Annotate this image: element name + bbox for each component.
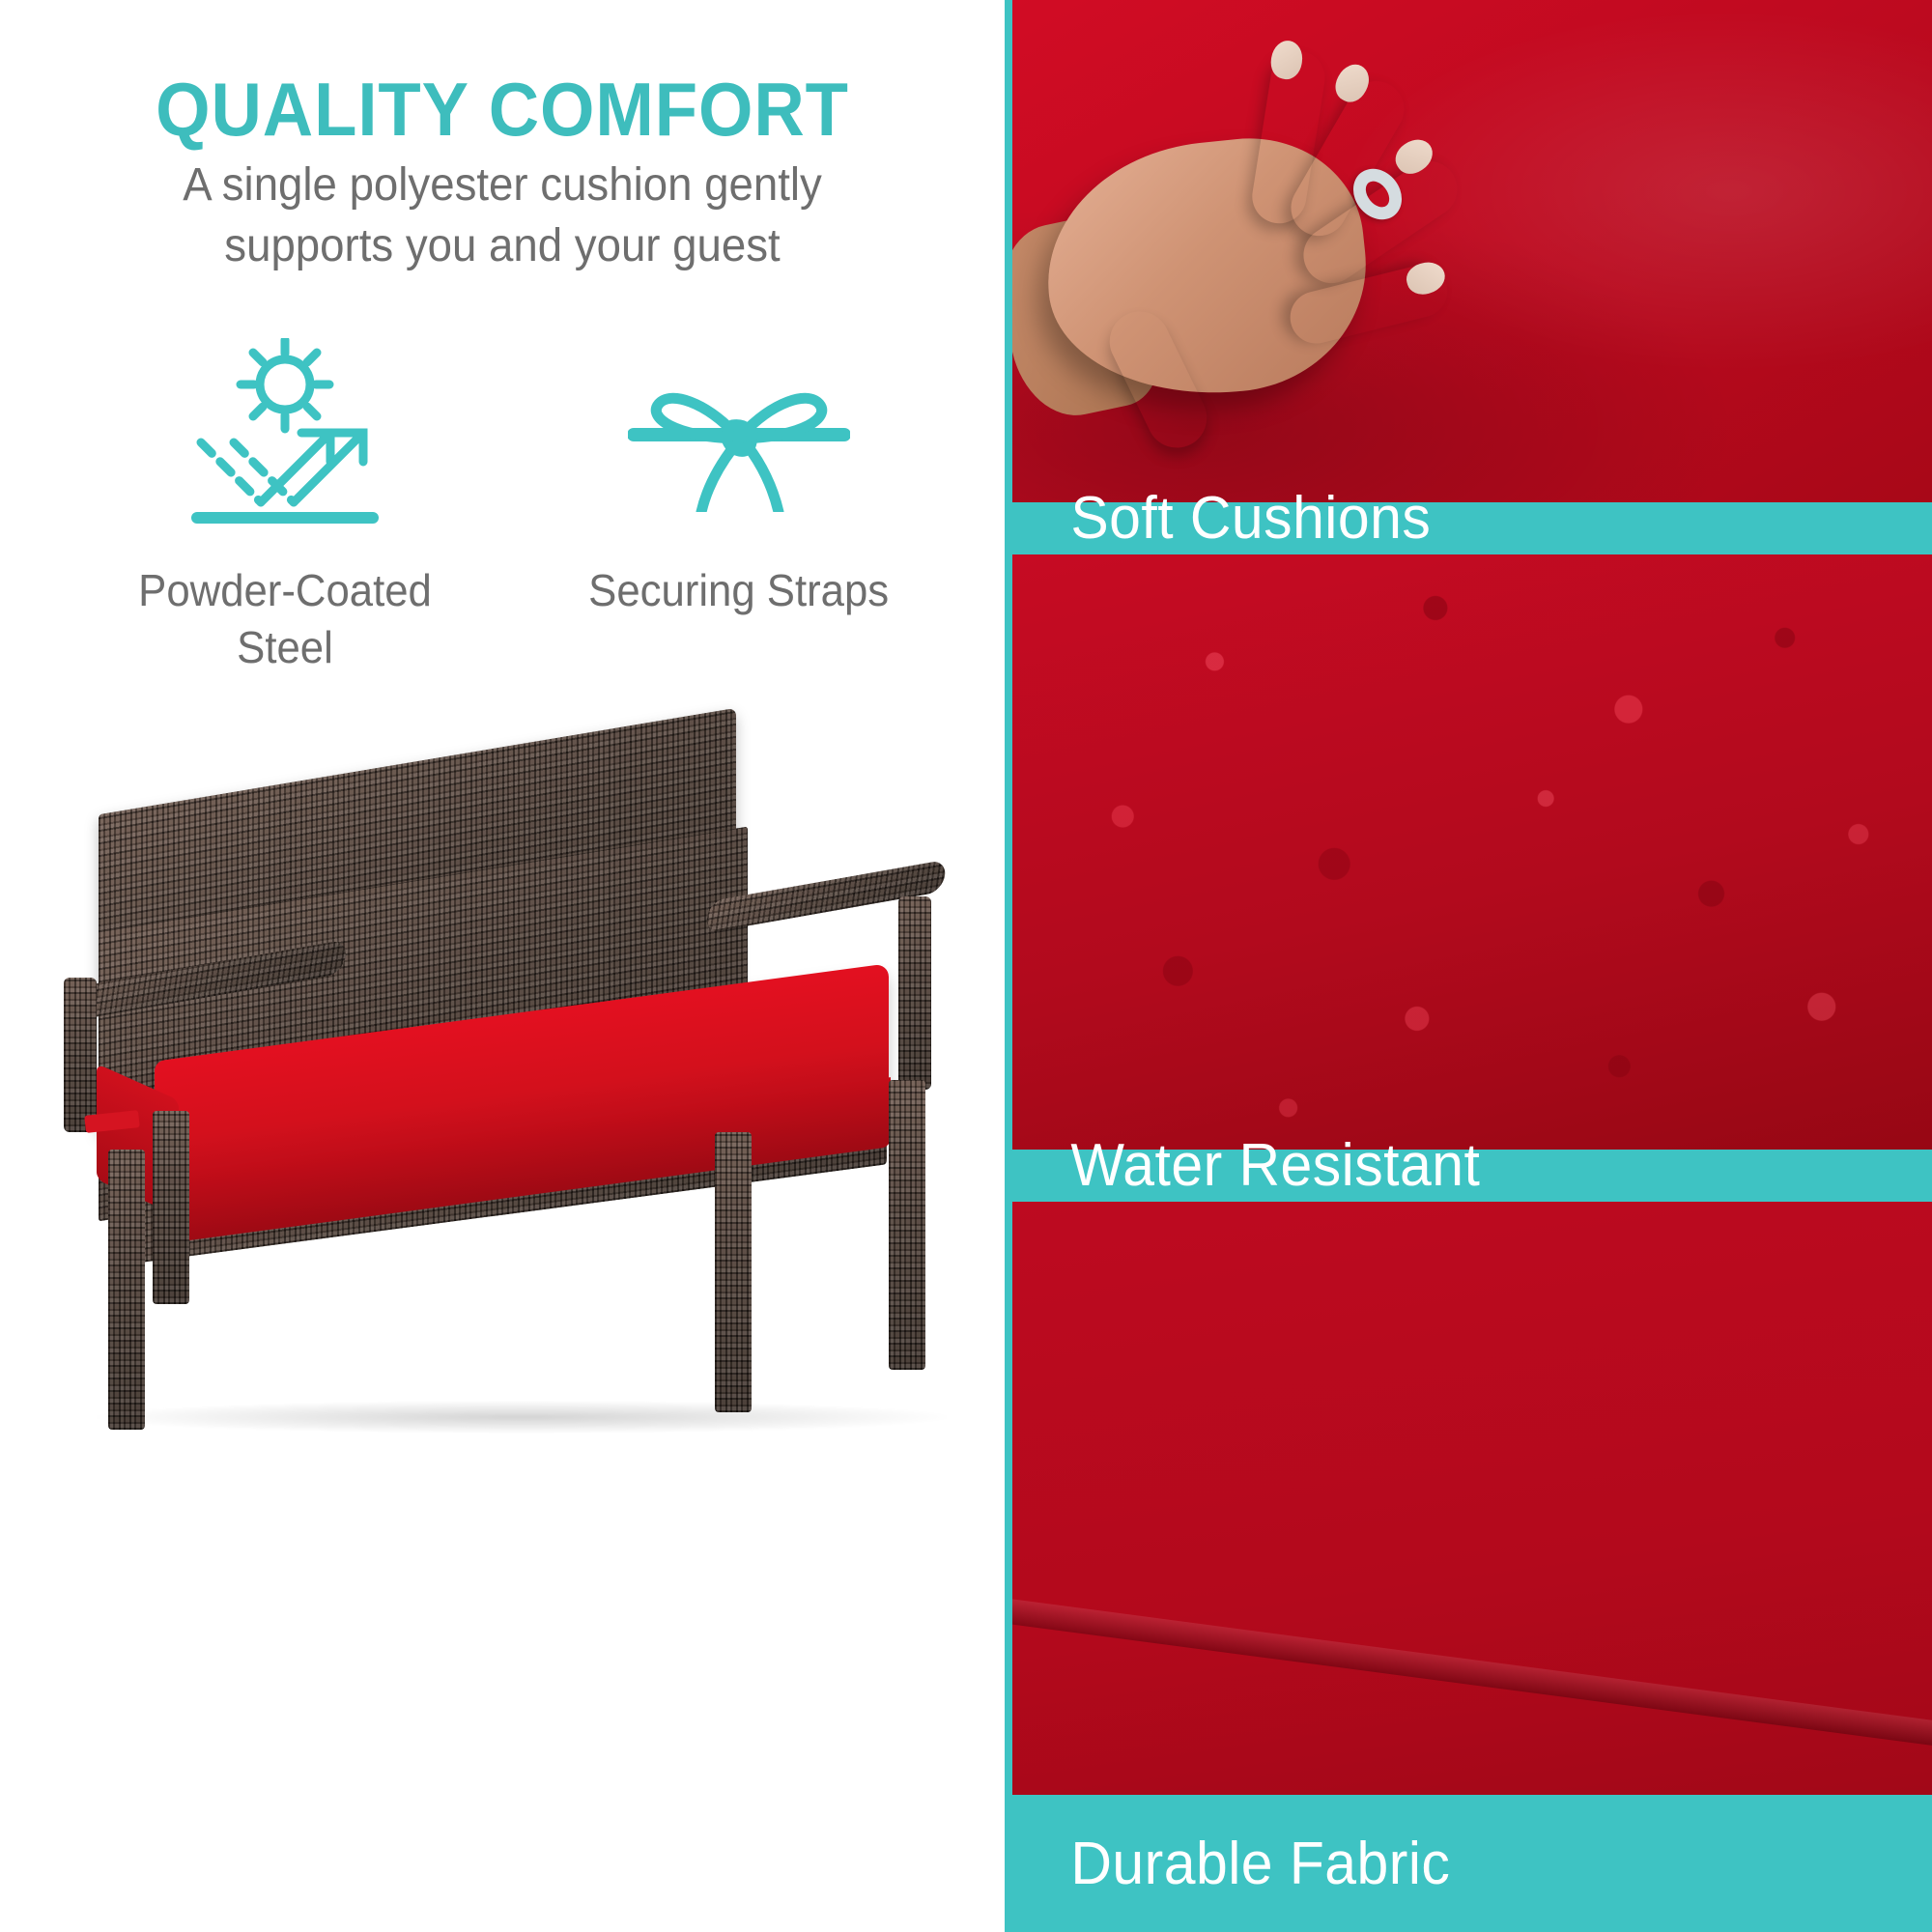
caption-row-durable-fabric: Durable Fabric [1005,1795,1932,1932]
feature-icon-row: Powder-Coated Steel [58,328,966,715]
wicker-loveseat-bench-photo [29,734,985,1449]
caption-label: Water Resistant [1005,1131,1480,1202]
ribbon-bow-icon [628,328,850,541]
product-feature-infographic: QUALITY COMFORT A single polyester cushi… [0,0,1932,1932]
feature-powder-coated-steel: Powder-Coated Steel [82,328,488,676]
bench-leg-back-left [153,1111,189,1304]
product-drop-shadow [97,1401,947,1434]
left-content-panel: QUALITY COMFORT A single polyester cushi… [0,0,1005,1932]
caption-row-soft-cushions: Soft Cushions [1005,404,1932,554]
sun-reflection-icon [184,328,386,541]
feature-securing-straps: Securing Straps [536,328,942,619]
feature-label: Powder-Coated Steel [93,562,478,676]
caption-label: Durable Fabric [1005,1830,1450,1898]
bench-leg-front-left [108,1150,145,1430]
red-fabric-closeup-photo [1012,1202,1932,1795]
page-title: QUALITY COMFORT [35,66,969,154]
feature-label: Securing Straps [589,562,890,619]
bench-arm-post-right [898,896,931,1090]
page-subtitle: A single polyester cushion gently suppor… [122,155,884,277]
bench-leg-back-right [889,1080,925,1370]
caption-label: Soft Cushions [1005,484,1431,554]
bench-leg-front-right [715,1132,752,1412]
caption-row-water-resistant: Water Resistant [1005,999,1932,1202]
right-feature-strip: Soft Cushions Water Resistant Durable Fa… [1005,0,1932,1932]
bench-arm-post-left [64,978,97,1132]
